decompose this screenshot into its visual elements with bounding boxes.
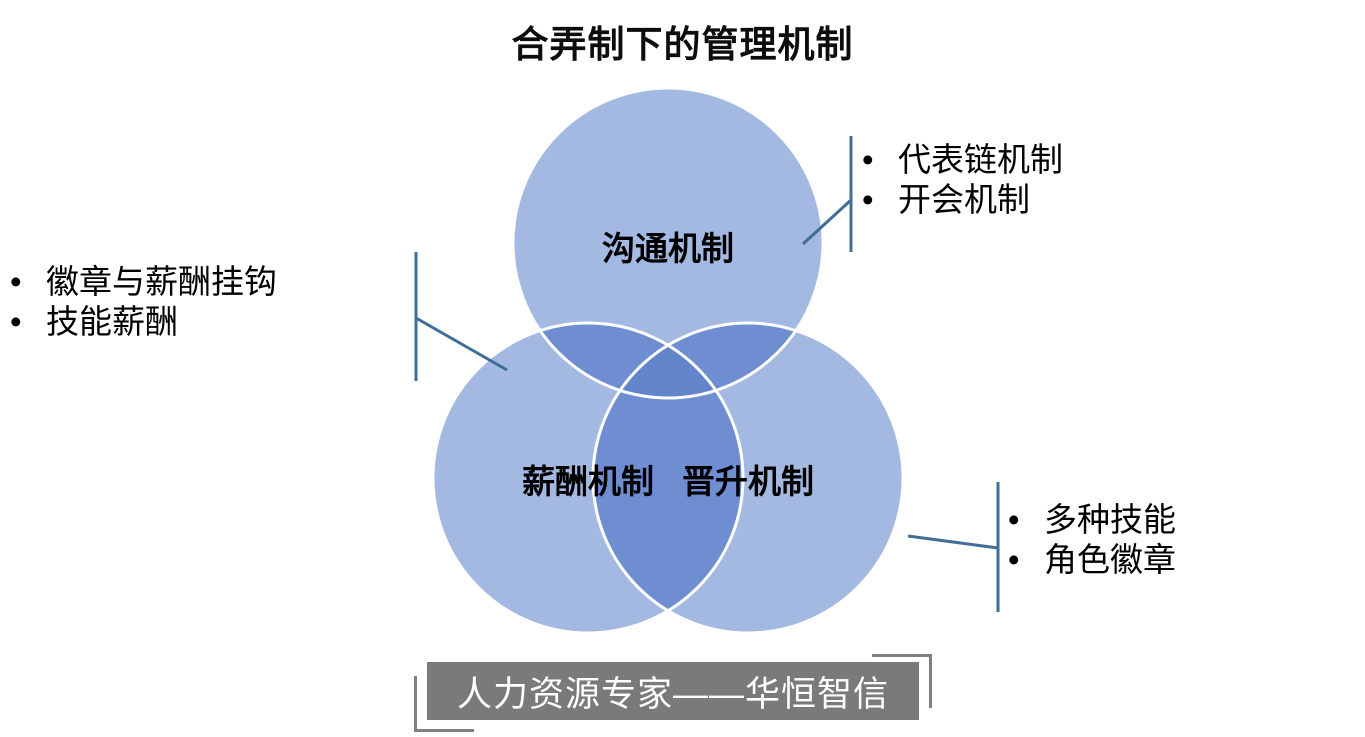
list-item-label: 代表链机制 (898, 140, 1063, 180)
venn-label-promotion: 晋升机制 (628, 455, 868, 503)
callout-communication: • 代表链机制 • 开会机制 (862, 140, 1063, 221)
bullet-icon: • (862, 140, 898, 180)
bullet-icon: • (862, 180, 898, 220)
venn-diagram (0, 0, 1365, 737)
callout-list: • 多种技能 • 角色徽章 (1008, 500, 1176, 581)
bullet-icon: • (1008, 540, 1044, 580)
callout-promotion: • 多种技能 • 角色徽章 (1008, 500, 1176, 581)
list-item-label: 角色徽章 (1044, 540, 1176, 580)
list-item: • 徽章与薪酬挂钩 (10, 262, 277, 302)
connector-left (416, 252, 507, 381)
list-item-label: 多种技能 (1044, 500, 1176, 540)
callout-compensation: • 徽章与薪酬挂钩 • 技能薪酬 (10, 262, 277, 343)
callout-list: • 代表链机制 • 开会机制 (862, 140, 1063, 221)
list-item-label: 开会机制 (898, 180, 1030, 220)
venn-label-communication: 沟通机制 (548, 222, 788, 270)
list-item: • 技能薪酬 (10, 302, 277, 342)
bullet-icon: • (1008, 500, 1044, 540)
slide-canvas: 合弄制下的管理机制 (0, 0, 1365, 737)
list-item-label: 技能薪酬 (46, 302, 178, 342)
callout-list: • 徽章与薪酬挂钩 • 技能薪酬 (10, 262, 277, 343)
bullet-icon: • (10, 302, 46, 342)
footer-banner-label: 人力资源专家——华恒智信 (457, 666, 889, 717)
list-item: • 多种技能 (1008, 500, 1176, 540)
list-item-label: 徽章与薪酬挂钩 (46, 262, 277, 302)
footer-banner: 人力资源专家——华恒智信 (427, 662, 919, 720)
list-item: • 角色徽章 (1008, 540, 1176, 580)
list-item: • 代表链机制 (862, 140, 1063, 180)
bullet-icon: • (10, 262, 46, 302)
connector-bottom-right (908, 482, 998, 612)
list-item: • 开会机制 (862, 180, 1063, 220)
